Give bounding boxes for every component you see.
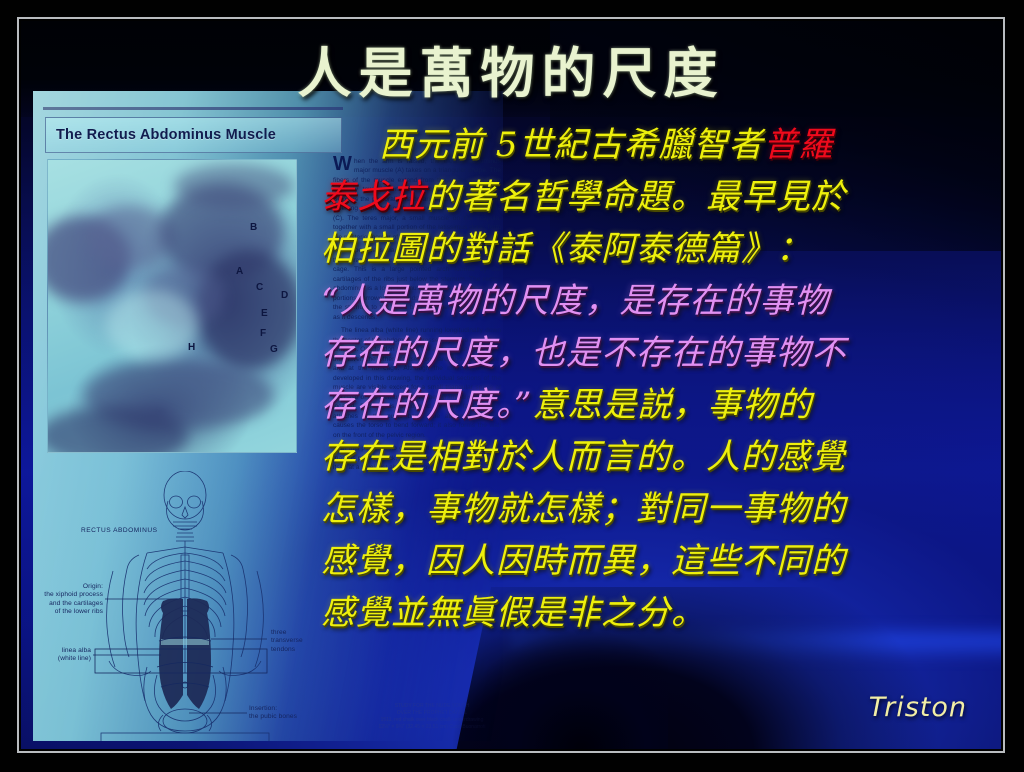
torso-label-c: C [256, 282, 263, 293]
torso-label-b: B [250, 222, 257, 233]
torso-label-e: E [261, 308, 268, 319]
body-text-run-red: 普羅 [763, 125, 833, 165]
skeleton-linea-alba-label: linea alba (white line) [37, 647, 91, 664]
body-text-line: 存在的尺度。”意思是説，事物的 [321, 379, 987, 431]
skeleton-diagram: RECTUS ABDOMINUS Origin: the xiphoid pro… [51, 471, 319, 741]
body-text-run-yellow: 意思是説，事物的 [532, 385, 812, 425]
poster-header-title: The Rectus Abdominus Muscle [46, 127, 276, 143]
torso-label-f: F [260, 328, 266, 339]
torso-label-a: A [236, 266, 243, 277]
body-text-run-red: 泰戈拉 [321, 177, 426, 217]
slide-photo: 人是萬物的尺度 The Rectus Abdominus Muscle B A [0, 0, 1024, 772]
poster-credit-caption: STUDY FOR THE NUDE YOUTH OVER THE PROPHE… [363, 703, 501, 731]
body-text-line: 西元前 5世紀古希臘智者普羅 [321, 119, 987, 171]
torso-label-h: H [188, 342, 195, 353]
page-title: 人是萬物的尺度 [21, 29, 1001, 108]
body-text-run-yellow: 西元前 5世紀古希臘智者 [379, 125, 763, 165]
body-text-line: 存在的尺度，也是不存在的事物不 [321, 327, 987, 379]
body-text-line: 感覺並無眞假是非之分。 [321, 587, 987, 639]
body-text-run-yellow: 感覺並無眞假是非之分。 [321, 593, 706, 633]
body-text-run-yellow: 感覺，因人因時而異，這些不同的 [321, 541, 846, 581]
torso-label-g: G [270, 344, 278, 355]
body-text-line: 柏拉圖的對話《泰阿泰德篇》： [321, 223, 987, 275]
body-text-run-yellow: 怎樣，事物就怎樣；對同一事物的 [321, 489, 846, 529]
skeleton-insertion-label: Insertion: the pubic bones [249, 705, 307, 722]
torso-label-d: D [281, 290, 288, 301]
body-text-line: 存在是相對於人而言的。人的感覺 [321, 431, 987, 483]
torso-shade-8 [174, 164, 294, 208]
body-text-line: 怎樣，事物就怎樣；對同一事物的 [321, 483, 987, 535]
body-text-run-yellow: 存在是相對於人而言的。人的感覺 [321, 437, 846, 477]
body-text-line: 感覺，因人因時而異，這些不同的 [321, 535, 987, 587]
body-text-line: 泰戈拉的著名哲學命題。最早見於 [321, 171, 987, 223]
signature-watermark: Triston [869, 692, 967, 723]
skeleton-muscle-name: RECTUS ABDOMINUS [81, 527, 158, 535]
torso-highlight [106, 290, 198, 360]
body-text-run-yellow: 柏拉圖的對話《泰阿泰德篇》： [321, 229, 811, 269]
presentation-slide: 人是萬物的尺度 The Rectus Abdominus Muscle B A [21, 21, 1001, 749]
body-text-run-yellow: 的著名哲學命題。最早見於 [426, 177, 846, 217]
torso-photograph: B A C D E F G H [47, 159, 297, 453]
body-text-run-pink: 存在的尺度，也是不存在的事物不 [321, 333, 846, 373]
body-text-line: “人是萬物的尺度，是存在的事物 [321, 275, 987, 327]
skeleton-tendons-label: three transverse tendons [271, 629, 321, 654]
body-text-run-pink: 存在的尺度。” [321, 385, 532, 425]
poster-header: The Rectus Abdominus Muscle [45, 117, 342, 153]
body-text-run-pink: “人是萬物的尺度，是存在的事物 [321, 281, 829, 321]
body-text-block: 西元前 5世紀古希臘智者普羅泰戈拉的著名哲學命題。最早見於柏拉圖的對話《泰阿泰德… [321, 119, 987, 639]
skeleton-origin-label: Origin: the xiphoid process and the cart… [39, 583, 103, 617]
